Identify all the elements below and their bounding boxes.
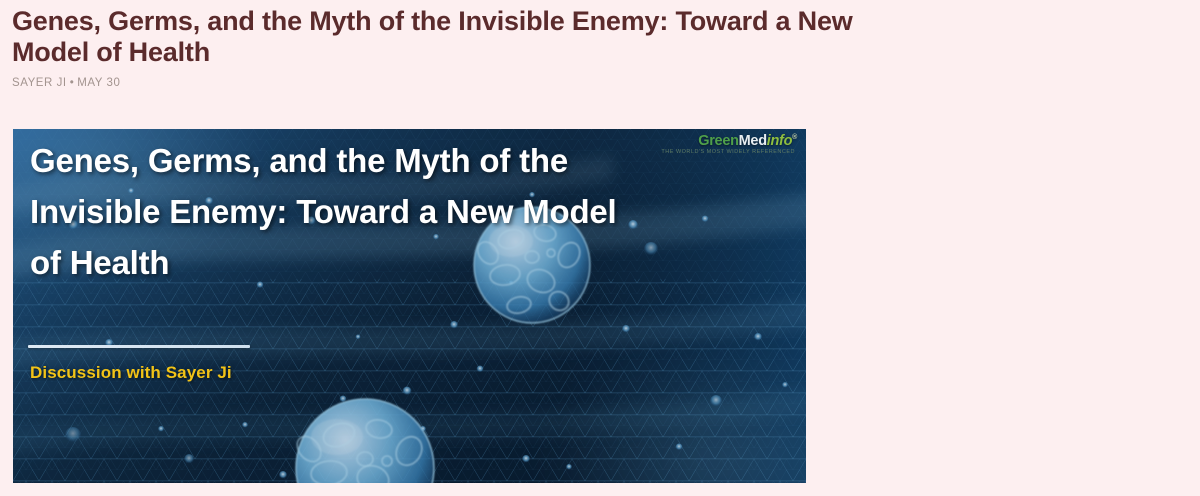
byline-separator: • (67, 77, 78, 89)
logo-text-info: info (767, 133, 792, 149)
article-banner-image[interactable]: Genes, Germs, and the Myth of the Invisi… (13, 129, 806, 483)
logo-text-green: Green (698, 133, 738, 149)
author-name[interactable]: SAYER JI (12, 77, 67, 89)
post-header: Genes, Germs, and the Myth of the Invisi… (0, 0, 1200, 89)
page-title[interactable]: Genes, Germs, and the Myth of the Invisi… (12, 6, 872, 68)
banner-text-overlay: Genes, Germs, and the Myth of the Invisi… (13, 129, 806, 483)
greenmedinfo-logo[interactable]: GreenMedinfo® (698, 133, 797, 149)
banner-divider (28, 345, 250, 348)
logo-tagline: THE WORLD'S MOST WIDELY REFERENCED (661, 149, 795, 155)
logo-text-med: Med (739, 133, 767, 149)
post-date: MAY 30 (77, 77, 120, 89)
post-byline: SAYER JI•MAY 30 (12, 77, 1200, 89)
logo-trademark-icon: ® (792, 134, 797, 141)
banner-heading: Genes, Germs, and the Myth of the Invisi… (30, 135, 650, 288)
banner-subtitle: Discussion with Sayer Ji (30, 363, 232, 383)
